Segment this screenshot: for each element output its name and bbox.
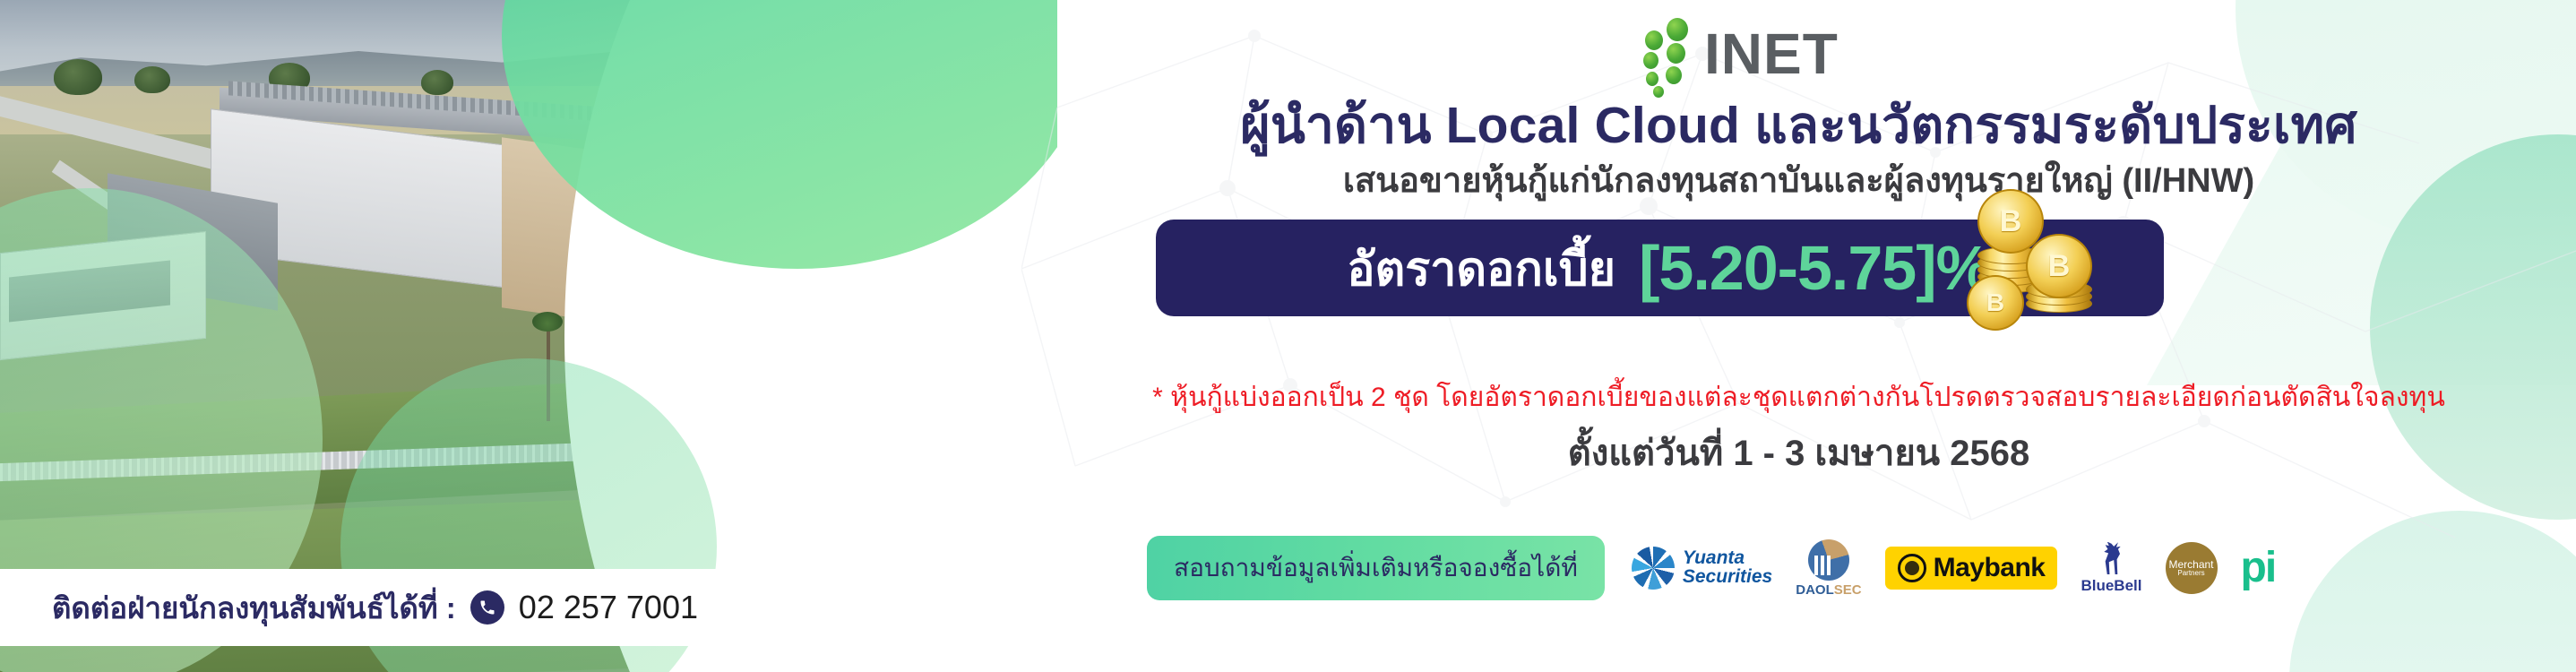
daol-line2: SEC [1834, 582, 1862, 598]
interest-rate-label: อัตราดอกเบี้ย [1347, 231, 1615, 306]
investor-relations-contact-card: ติดต่อฝ่ายนักลงทุนสัมพันธ์ได้ที่ : 02 25… [0, 569, 797, 646]
partner-logo-merchant-partners[interactable]: Merchant Partners [2166, 542, 2218, 594]
tree [134, 66, 170, 93]
merchant-line2: Partners [2177, 570, 2204, 577]
gold-coin-stack-icon: B B B [1970, 182, 2105, 314]
inet-green-dots-logo-icon [1640, 16, 1699, 91]
tree [421, 70, 453, 95]
bluebell-wordmark: BlueBell [2081, 577, 2141, 595]
content-area: INET ผู้นำด้าน Local Cloud และนวัตกรรมระ… [1021, 0, 2576, 672]
partner-logo-daol[interactable]: DAOLSEC [1796, 539, 1861, 598]
daol-circle-icon [1808, 539, 1849, 581]
partner-logo-bluebell[interactable]: BlueBell [2081, 542, 2141, 595]
tree [54, 59, 102, 95]
palm-crown [532, 312, 563, 332]
cta-row: สอบถามข้อมูลเพิ่มเติมหรือจองซื้อได้ที่ Y… [1147, 536, 2275, 600]
yuanta-line2: Securities [1683, 568, 1772, 587]
maybank-tiger-icon [1898, 554, 1926, 582]
mint-blob-bottom-right [2289, 511, 2576, 672]
interest-rate-box: อัตราดอกเบี้ย [5.20-5.75]% B B [1156, 220, 2164, 316]
partner-logo-pi[interactable]: pi [2241, 550, 2276, 587]
inet-wordmark: INET [1704, 25, 1839, 82]
offer-period: ตั้งแต่วันที่ 1 - 3 เมษายน 2568 [1021, 424, 2576, 481]
phone-icon [470, 590, 504, 625]
daol-line1: DAOL [1796, 582, 1834, 598]
bluebell-deer-icon [2096, 542, 2126, 576]
interest-rate-value: [5.20-5.75]% [1639, 232, 1991, 304]
maybank-wordmark: Maybank [1934, 553, 2046, 583]
subheadline: เสนอขายหุ้นกู้แก่นักลงทุนสถาบันและผู้ลงท… [1021, 152, 2576, 207]
partner-logo-maybank[interactable]: Maybank [1885, 547, 2058, 590]
inet-logo: INET [1640, 16, 1839, 91]
inquiry-button[interactable]: สอบถามข้อมูลเพิ่มเติมหรือจองซื้อได้ที่ [1147, 536, 1605, 600]
partner-logo-yuanta[interactable]: Yuanta Securities [1632, 547, 1772, 590]
partner-logos: Yuanta Securities DAOLSEC Maybank [1632, 539, 2275, 598]
contact-phone-number[interactable]: 02 257 7001 [519, 589, 698, 626]
inet-bond-promo-banner: INET ผู้นำด้าน Local Cloud และนวัตกรรมระ… [0, 0, 2576, 672]
yuanta-star-icon [1632, 547, 1675, 590]
yuanta-line1: Yuanta [1683, 549, 1772, 568]
disclaimer-text: * หุ้นกู้แบ่งออกเป็น 2 ชุด โดยอัตราดอกเบ… [1021, 376, 2576, 418]
contact-label: ติดต่อฝ่ายนักลงทุนสัมพันธ์ได้ที่ : [52, 584, 456, 632]
